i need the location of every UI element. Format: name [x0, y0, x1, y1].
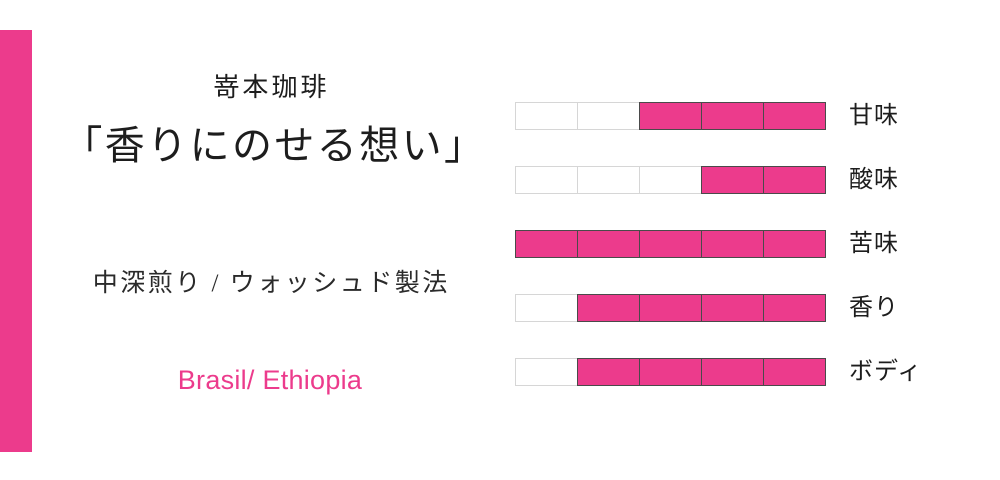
rating-row: 酸味	[515, 166, 945, 194]
accent-stripe	[0, 30, 32, 452]
rating-segment-filled[interactable]	[701, 358, 763, 386]
rating-segment-empty[interactable]	[639, 166, 701, 194]
rating-segment-filled[interactable]	[701, 166, 763, 194]
product-info-column: 嵜本珈琲 「香りにのせる想い」 中深煎り / ウォッシュド製法 Brasil/ …	[60, 70, 480, 398]
rating-segment-empty[interactable]	[515, 358, 577, 386]
rating-segment-filled[interactable]	[701, 294, 763, 322]
rating-segment-filled[interactable]	[515, 230, 577, 258]
rating-segment-empty[interactable]	[577, 166, 639, 194]
rating-label: ボディ	[849, 360, 922, 384]
rating-segment-empty[interactable]	[515, 166, 577, 194]
rating-segment-filled[interactable]	[763, 166, 826, 194]
rating-row: 香り	[515, 294, 945, 322]
page-title: 「香りにのせる想い」	[60, 121, 480, 171]
rating-bar	[515, 358, 826, 386]
rating-segment-filled[interactable]	[639, 230, 701, 258]
rating-segment-filled[interactable]	[763, 294, 826, 322]
rating-label: 酸味	[849, 168, 899, 192]
rating-label: 香り	[849, 296, 899, 320]
rating-segment-filled[interactable]	[701, 230, 763, 258]
rating-row: 甘味	[515, 102, 945, 130]
rating-segment-filled[interactable]	[763, 358, 826, 386]
rating-segment-filled[interactable]	[763, 102, 826, 130]
rating-segment-filled[interactable]	[639, 358, 701, 386]
rating-segment-filled[interactable]	[577, 230, 639, 258]
rating-segment-empty[interactable]	[515, 102, 577, 130]
brand-name: 嵜本珈琲	[60, 70, 480, 105]
flavor-rating-chart: 甘味酸味苦味香りボディ	[515, 102, 945, 386]
rating-bar	[515, 294, 826, 322]
rating-segment-filled[interactable]	[763, 230, 826, 258]
rating-label: 甘味	[849, 104, 899, 128]
rating-segment-filled[interactable]	[639, 102, 701, 130]
rating-bar	[515, 102, 826, 130]
rating-bar	[515, 230, 826, 258]
rating-label: 苦味	[849, 232, 899, 256]
rating-segment-filled[interactable]	[639, 294, 701, 322]
rating-segment-filled[interactable]	[701, 102, 763, 130]
rating-segment-filled[interactable]	[577, 358, 639, 386]
coffee-profile-card: 嵜本珈琲 「香りにのせる想い」 中深煎り / ウォッシュド製法 Brasil/ …	[0, 0, 1000, 480]
rating-segment-empty[interactable]	[515, 294, 577, 322]
rating-bar	[515, 166, 826, 194]
rating-segment-filled[interactable]	[577, 294, 639, 322]
rating-row: ボディ	[515, 358, 945, 386]
roast-and-process: 中深煎り / ウォッシュド製法	[60, 266, 480, 301]
origin-countries: Brasil/ Ethiopia	[60, 363, 480, 398]
rating-row: 苦味	[515, 230, 945, 258]
rating-segment-empty[interactable]	[577, 102, 639, 130]
